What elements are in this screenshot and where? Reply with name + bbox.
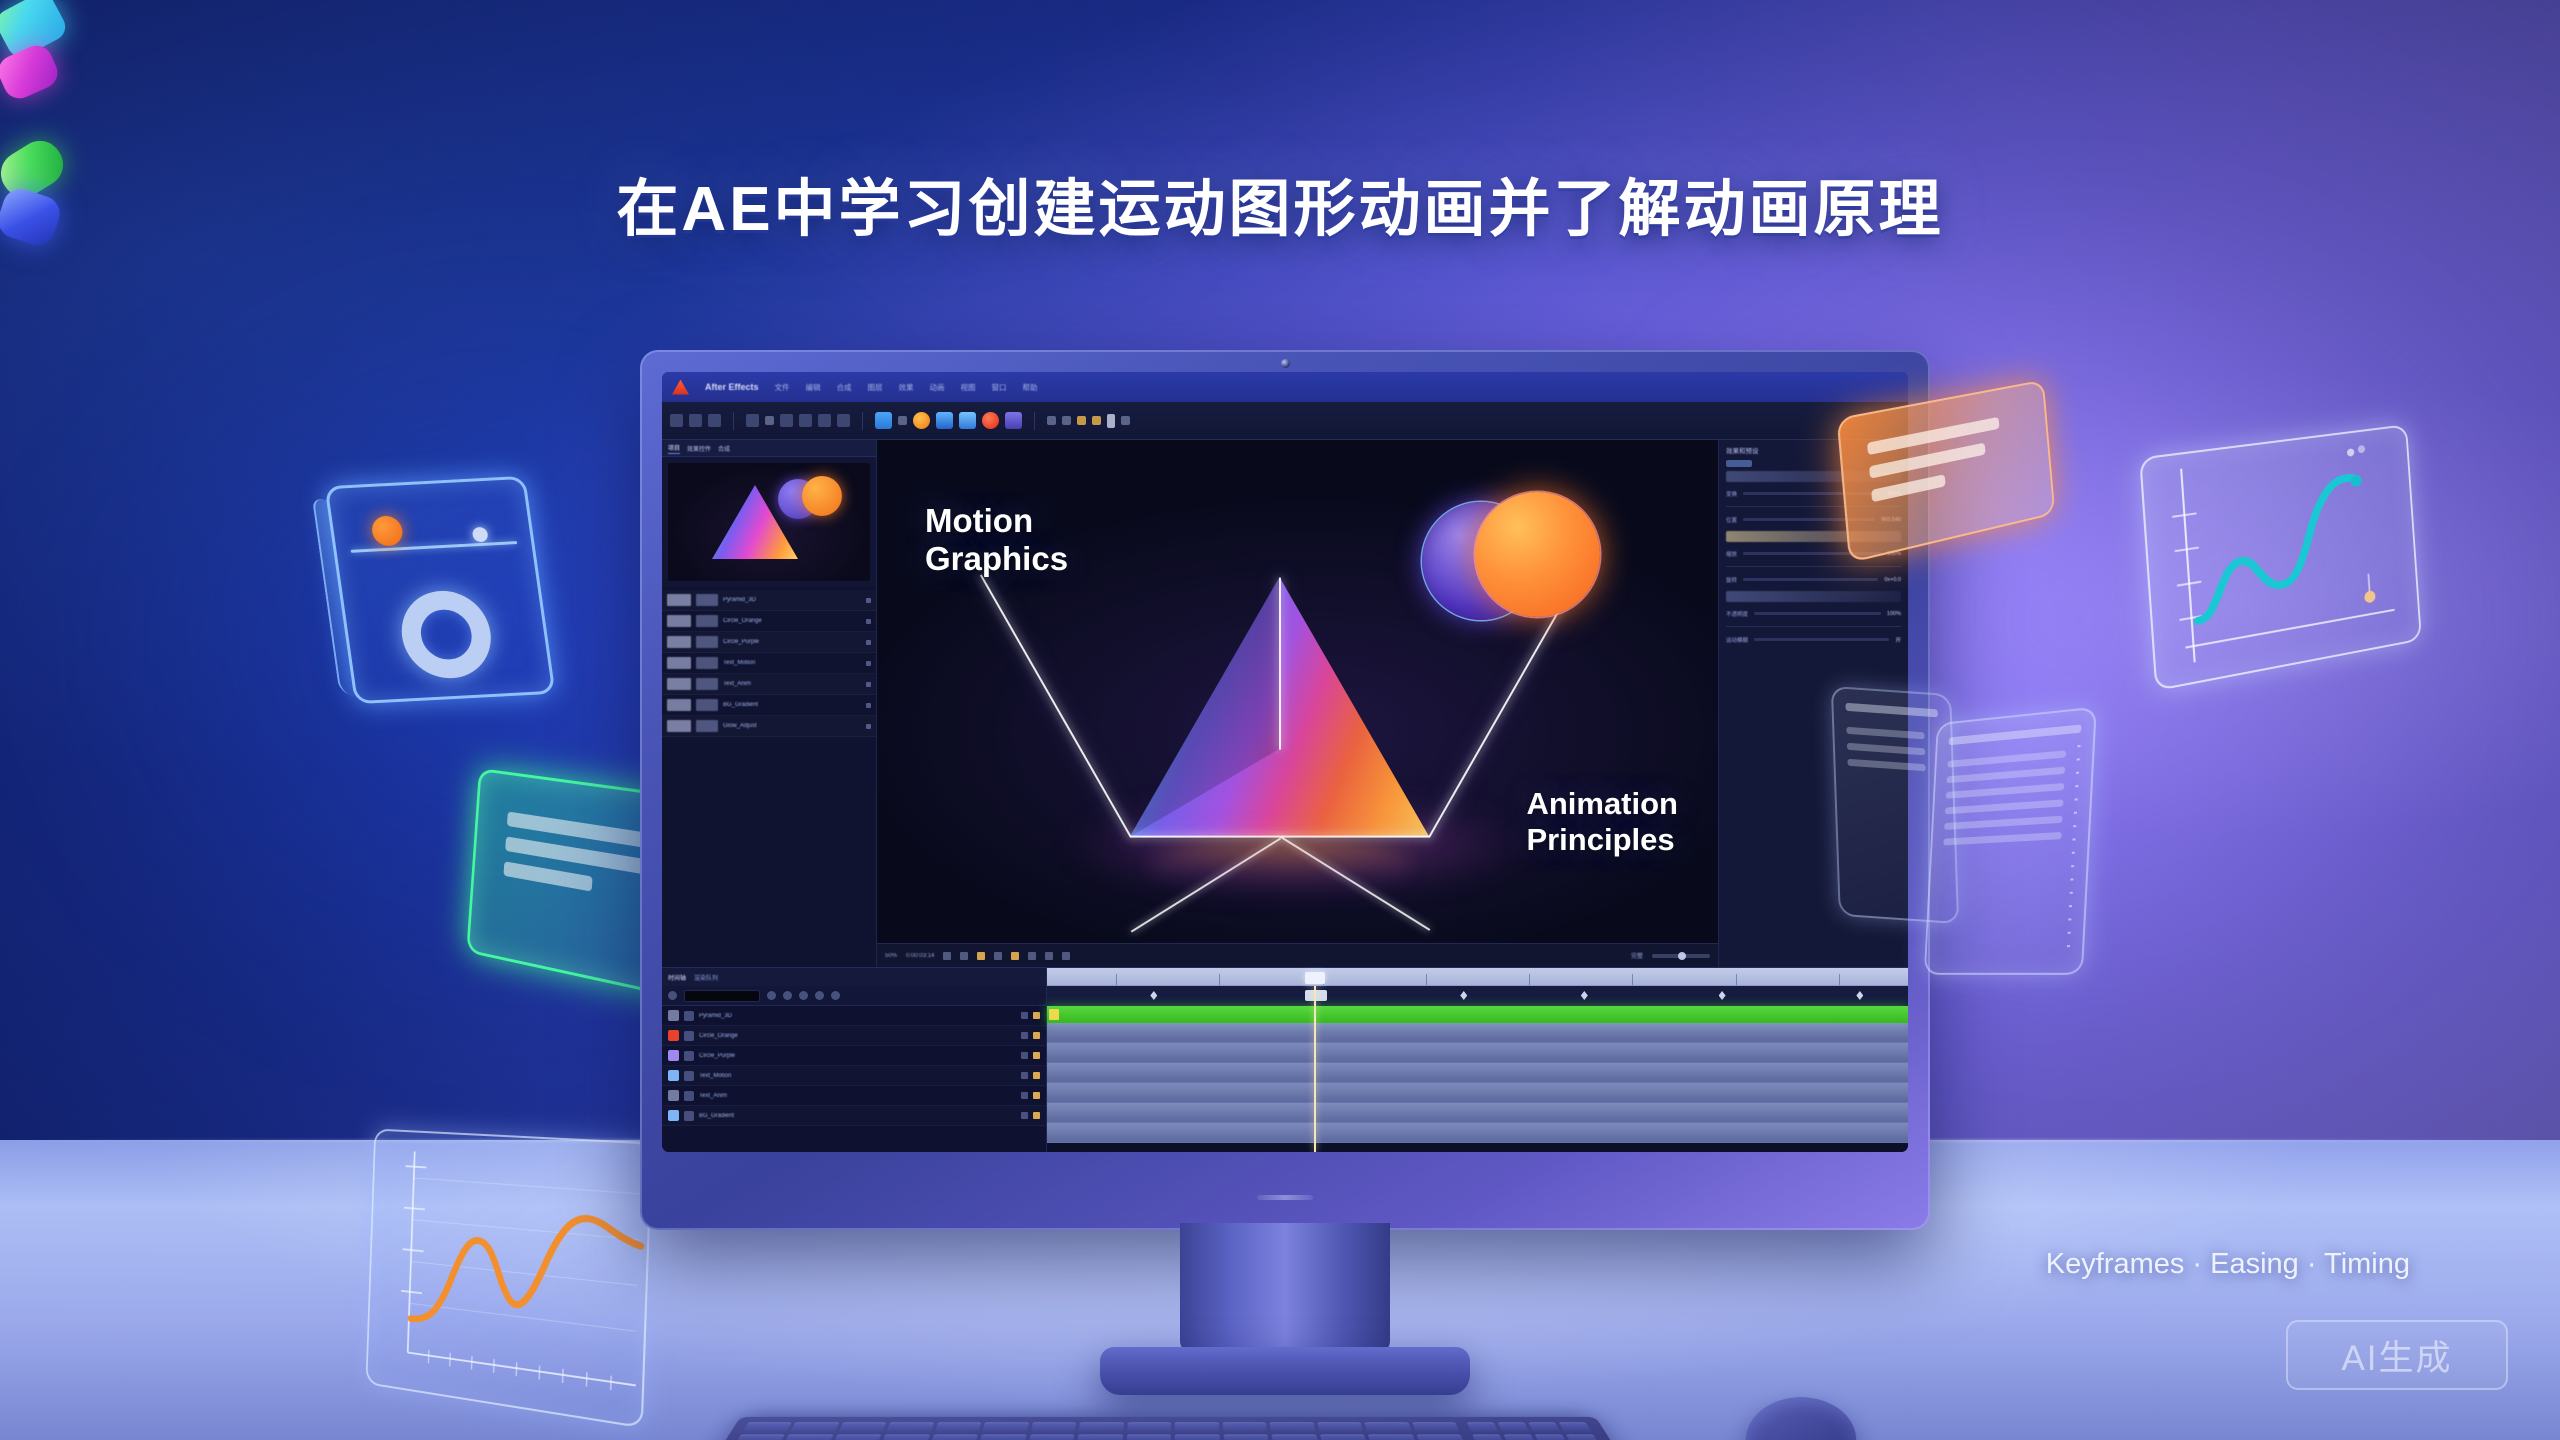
toolbar-divider — [733, 412, 734, 430]
tagline: Keyframes · Easing · Timing — [2046, 1248, 2410, 1281]
toolbar-group-transform — [746, 414, 850, 427]
layer-color-swatch[interactable] — [668, 1030, 679, 1041]
timeline-rows: Pyramid_3D Circle_Orange — [662, 1006, 1046, 1152]
keyframe-marker-icon[interactable] — [1460, 991, 1467, 1000]
shape-icon[interactable] — [1092, 416, 1101, 425]
layer-name: Glow_Adjust — [723, 723, 861, 729]
key — [1498, 1423, 1530, 1433]
layer-flag-icon[interactable] — [866, 598, 871, 603]
timeline-ruler[interactable] — [1047, 968, 1908, 986]
selection-icon[interactable] — [670, 414, 683, 427]
ruler-tick — [1116, 974, 1117, 985]
layer-lock-icon[interactable] — [1033, 1052, 1040, 1059]
list-item[interactable]: Text_Motion — [662, 653, 876, 674]
composition-viewer: Motion Graphics Animation Principles 50%… — [877, 440, 1718, 967]
timeline-keyframe-row[interactable] — [1047, 986, 1908, 1006]
app-shortcut-orange-icon[interactable] — [913, 412, 930, 429]
app-shortcut-small-icon[interactable] — [898, 416, 907, 425]
panel-card-header — [1845, 703, 1938, 717]
viewer-transparency-grid-icon[interactable] — [977, 952, 985, 960]
panel-card-row — [1847, 759, 1925, 771]
webcam-icon — [1281, 359, 1290, 368]
layer-solo-icon[interactable] — [1021, 1072, 1028, 1079]
layer-flag-icon[interactable] — [866, 724, 871, 729]
key — [1127, 1423, 1171, 1433]
timeline-panel: 时间轴 渲染队列 — [662, 967, 1908, 1152]
list-item[interactable]: Text_Anim — [662, 674, 876, 695]
layer-lock-icon[interactable] — [1033, 1012, 1040, 1019]
toolbar-group-right — [1047, 414, 1130, 428]
after-effects-app: After Effects 文件 编辑 合成 图层 效果 动画 视图 窗口 帮助 — [662, 372, 1908, 1152]
chart-legend-dot — [2358, 445, 2366, 454]
monitor: After Effects 文件 编辑 合成 图层 效果 动画 视图 窗口 帮助 — [640, 350, 1930, 1230]
key — [1077, 1434, 1123, 1440]
camera-indicator-white-icon — [472, 527, 489, 543]
key — [1028, 1434, 1074, 1440]
timeline-lane[interactable] — [1047, 1103, 1908, 1123]
clone-icon[interactable] — [837, 414, 850, 427]
toolbar-divider — [862, 412, 863, 430]
viewer-resolution-value[interactable]: 完整 — [1631, 951, 1643, 960]
hand-icon[interactable] — [689, 414, 702, 427]
timeline-lane[interactable] — [1047, 1043, 1908, 1063]
menu-item-layer[interactable]: 图层 — [868, 382, 883, 393]
table-row[interactable]: Circle_Orange — [662, 1026, 1046, 1046]
menu-item-animation[interactable]: 动画 — [930, 382, 945, 393]
timeline-lane[interactable] — [1047, 1123, 1908, 1143]
camera-strip — [351, 541, 518, 553]
layer-visibility-icon[interactable] — [684, 1051, 694, 1061]
key — [1175, 1434, 1220, 1440]
panel-card-ticks — [2066, 745, 2080, 954]
keyframe-marker-icon[interactable] — [1150, 991, 1157, 1000]
viewer-snapshot-icon[interactable] — [1045, 952, 1053, 960]
table-row[interactable]: Pyramid_3D — [662, 1006, 1046, 1026]
timeline-playhead[interactable] — [1314, 986, 1316, 1152]
layer-solo-icon[interactable] — [1021, 1112, 1028, 1119]
layer-color-swatch[interactable] — [668, 1050, 679, 1061]
frame-blend-icon[interactable] — [783, 991, 792, 1000]
overlay-text-motion-graphics: Motion Graphics — [925, 502, 1068, 577]
chart-x-ticks — [428, 1350, 611, 1390]
key — [833, 1434, 882, 1440]
toolbar-group-left — [670, 414, 721, 427]
effect-property-label: 不透明度 — [1726, 610, 1748, 618]
ruler-tick — [1529, 974, 1530, 985]
effects-search-chip[interactable] — [1726, 460, 1752, 467]
layer-name: Circle_Purple — [699, 1053, 1016, 1059]
layer-name: BG_Gradient — [699, 1113, 1016, 1119]
menu-item-window[interactable]: 窗口 — [992, 382, 1007, 393]
key — [1031, 1423, 1076, 1433]
layer-name: Circle_Orange — [723, 618, 861, 624]
layer-name: Text_Motion — [699, 1073, 1016, 1079]
timeline-tabs: 时间轴 渲染队列 — [662, 968, 1046, 986]
layer-name: Circle_Purple — [723, 639, 861, 645]
card-line-group — [1867, 412, 2030, 503]
anchor-icon[interactable] — [765, 416, 774, 425]
toolbar-group-apps — [875, 412, 1022, 429]
layer-color-swatch[interactable] — [668, 1090, 679, 1101]
glass-panel-card — [1924, 707, 2097, 975]
menu-item-help[interactable]: 帮助 — [1023, 382, 1038, 393]
work-area-marker[interactable] — [1305, 990, 1327, 1001]
key — [1535, 1434, 1568, 1440]
layer-type-icon — [696, 720, 718, 732]
camera-indicator-orange-icon — [370, 515, 404, 546]
brush-icon[interactable] — [818, 414, 831, 427]
monitor-stand-base — [1100, 1347, 1470, 1395]
list-item[interactable]: Circle_Purple — [662, 632, 876, 653]
project-panel-tabs: 项目 效果控件 合成 — [662, 440, 876, 457]
key — [979, 1434, 1026, 1440]
layer-thumbnail — [667, 636, 691, 648]
effect-property-value[interactable]: 100% — [1887, 611, 1901, 617]
key — [1317, 1423, 1363, 1433]
effect-property-label: 运动模糊 — [1726, 636, 1748, 644]
toolbar-divider — [1034, 412, 1035, 430]
layer-solo-icon[interactable] — [1021, 1092, 1028, 1099]
key — [1364, 1423, 1411, 1433]
key — [1566, 1434, 1599, 1440]
easing-curve-path — [2189, 477, 2364, 621]
key — [1223, 1434, 1269, 1440]
key — [742, 1423, 792, 1433]
zoom-icon[interactable] — [708, 414, 721, 427]
chart-x-axis — [2185, 610, 2394, 648]
chart-y-axis — [408, 1151, 415, 1352]
panel-card-rows — [1846, 727, 1926, 771]
preview-circle-orange-icon — [802, 476, 842, 516]
page-title: 在AE中学习创建运动图形动画并了解动画原理 — [0, 158, 2560, 248]
list-item[interactable]: Glow_Adjust — [662, 716, 876, 737]
effect-property-value[interactable]: 0x+0.0 — [1884, 577, 1901, 583]
viewer-control-bar: 50% 0:00:03:14 — [877, 943, 1718, 967]
panel-card-row — [1943, 832, 2062, 845]
app-toolbar — [662, 402, 1908, 440]
key — [735, 1434, 786, 1440]
key — [1467, 1423, 1498, 1433]
layer-visibility-icon[interactable] — [684, 1011, 694, 1021]
layer-thumbnail — [667, 678, 691, 690]
layer-lock-icon[interactable] — [1033, 1092, 1040, 1099]
key — [1222, 1423, 1267, 1433]
chart-endpoint-dot — [2364, 590, 2376, 603]
layer-name: Text_Anim — [699, 1093, 1016, 1099]
keyframe-marker-icon[interactable] — [1719, 991, 1726, 1000]
key — [839, 1423, 887, 1433]
list-item[interactable]: Pyramid_3D — [662, 590, 876, 611]
timeline-lane[interactable] — [1047, 1063, 1908, 1083]
panel-card-row — [1945, 799, 2064, 814]
layer-type-icon — [696, 636, 718, 648]
panel-card-row — [1947, 767, 2066, 784]
layer-thumbnail — [667, 594, 691, 606]
key — [1271, 1434, 1317, 1440]
tab-comp[interactable]: 合成 — [718, 444, 730, 453]
viewer-channel-icon[interactable] — [1011, 952, 1019, 960]
scene-root: 在AE中学习创建运动图形动画并了解动画原理 — [0, 0, 2560, 1440]
effect-property-label: 位置 — [1726, 516, 1737, 524]
effect-property-slider[interactable] — [1754, 638, 1889, 641]
chart-x-axis — [408, 1353, 636, 1386]
key — [1559, 1423, 1592, 1433]
menu-item-comp[interactable]: 合成 — [837, 382, 852, 393]
keyframe-marker-icon[interactable] — [1581, 991, 1588, 1000]
project-layer-list: Pyramid_3D Circle_Orange — [662, 587, 876, 967]
key — [1472, 1434, 1504, 1440]
ai-generated-watermark: AI生成 — [2286, 1320, 2508, 1390]
key — [887, 1423, 935, 1433]
layer-lock-icon[interactable] — [1033, 1032, 1040, 1039]
key — [1416, 1434, 1465, 1440]
viewer-resolution-icon[interactable] — [943, 952, 951, 960]
layer-visibility-icon[interactable] — [684, 1071, 694, 1081]
graph-editor-icon[interactable] — [799, 991, 808, 1000]
layer-color-swatch[interactable] — [668, 1110, 679, 1121]
list-item[interactable]: Circle_Orange — [662, 611, 876, 632]
panel-card-row — [1947, 750, 2066, 767]
layer-type-icon — [696, 657, 718, 669]
effect-property-row[interactable]: 旋转 0x+0.0 — [1726, 572, 1901, 587]
key — [935, 1423, 982, 1433]
card-line — [1871, 474, 1945, 502]
viewer-3d-view-icon[interactable] — [1062, 952, 1070, 960]
table-row[interactable]: BG_Gradient — [662, 1106, 1046, 1126]
project-panel: 项目 效果控件 合成 — [662, 440, 877, 967]
menu-item-file[interactable]: 文件 — [775, 382, 790, 393]
overlay-text-animation-principles: Animation Principles — [1526, 786, 1678, 857]
panel-card-row — [1946, 783, 2065, 799]
camera-icon — [324, 476, 555, 704]
tab-project[interactable]: 项目 — [668, 443, 680, 454]
key — [1079, 1423, 1124, 1433]
effect-property-value[interactable]: 开 — [1895, 636, 1901, 644]
layer-visibility-icon[interactable] — [684, 1111, 694, 1121]
panel-card-row — [1846, 727, 1924, 739]
viewer-exposure-icon[interactable] — [1028, 952, 1036, 960]
layer-solo-icon[interactable] — [1021, 1012, 1028, 1019]
key — [930, 1434, 978, 1440]
after-effects-logo-icon — [672, 380, 689, 395]
shy-layers-icon[interactable] — [815, 991, 824, 1000]
panel-card-header — [1949, 724, 2082, 745]
key — [1270, 1423, 1316, 1433]
app-shortcut-azure-icon[interactable] — [959, 412, 976, 429]
layer-flag-icon[interactable] — [866, 682, 871, 687]
layer-flag-icon[interactable] — [866, 619, 871, 624]
camera-tool-icon[interactable] — [1121, 416, 1130, 425]
composition-canvas[interactable]: Motion Graphics Animation Principles — [877, 440, 1718, 943]
key — [1412, 1423, 1460, 1433]
tab-effects[interactable]: 效果控件 — [687, 444, 711, 453]
pyramid-edge-center — [1279, 577, 1281, 749]
viewer-guides-icon[interactable] — [994, 952, 1002, 960]
mask-icon[interactable] — [1107, 414, 1115, 428]
ruler-tick — [1219, 974, 1220, 985]
key — [983, 1423, 1029, 1433]
layer-thumbnail — [667, 657, 691, 669]
panel-card-row — [1944, 816, 2063, 830]
puppet-icon[interactable] — [1062, 416, 1071, 425]
effect-property-slider[interactable] — [1754, 612, 1881, 615]
viewer-region-icon[interactable] — [960, 952, 968, 960]
timeline-lane[interactable] — [1047, 1083, 1908, 1103]
key — [1175, 1423, 1219, 1433]
layer-flag-icon[interactable] — [866, 703, 871, 708]
layer-lock-icon[interactable] — [1033, 1112, 1040, 1119]
menu-item-view[interactable]: 视图 — [961, 382, 976, 393]
key — [1503, 1434, 1536, 1440]
layer-solo-icon[interactable] — [1021, 1032, 1028, 1039]
list-item[interactable]: BG_Gradient — [662, 695, 876, 716]
chart-legend-dot — [2347, 448, 2355, 457]
monitor-bezel: After Effects 文件 编辑 合成 图层 效果 动画 视图 窗口 帮助 — [640, 350, 1930, 1230]
timeline-toolbar — [662, 986, 1046, 1006]
layer-type-icon — [696, 699, 718, 711]
effect-property-label: 变换 — [1726, 490, 1737, 498]
ruler-tick — [1426, 974, 1427, 985]
layer-flag-icon[interactable] — [866, 640, 871, 645]
key — [1368, 1434, 1416, 1440]
key — [790, 1423, 839, 1433]
layer-type-icon — [696, 678, 718, 690]
layer-thumbnail — [667, 615, 691, 627]
effect-property-row[interactable]: 运动模糊 开 — [1726, 632, 1901, 647]
layer-color-swatch[interactable] — [668, 1010, 679, 1021]
timecode-display[interactable] — [684, 990, 760, 1002]
camera-lens-icon — [396, 589, 496, 681]
app-shortcut-blue-icon[interactable] — [875, 412, 892, 429]
effect-property-slider[interactable] — [1743, 578, 1878, 581]
effect-property-row[interactable]: 不透明度 100% — [1726, 606, 1901, 621]
key — [1126, 1434, 1171, 1440]
monitor-stand-neck — [1180, 1223, 1390, 1353]
ruler-tick — [1736, 974, 1737, 985]
layer-solo-icon[interactable] — [1021, 1052, 1028, 1059]
layer-type-icon — [696, 594, 718, 606]
layer-name: Pyramid_3D — [699, 1013, 1016, 1019]
camera-icon-card — [324, 476, 555, 704]
effects-divider — [1726, 626, 1901, 627]
layer-thumbnail — [667, 720, 691, 732]
keyframe-marker-icon[interactable] — [1856, 991, 1863, 1000]
tab-render-queue[interactable]: 渲染队列 — [694, 973, 718, 982]
layer-name: Pyramid_3D — [723, 597, 861, 603]
layer-color-swatch[interactable] — [668, 1070, 679, 1081]
key — [1528, 1423, 1560, 1433]
viewer-zoom-value[interactable]: 50% — [885, 953, 897, 959]
layer-name: Circle_Orange — [699, 1033, 1016, 1039]
table-row[interactable]: Text_Motion — [662, 1066, 1046, 1086]
viewer-timecode[interactable]: 0:00:03:14 — [906, 953, 934, 959]
playhead-handle[interactable] — [1305, 972, 1325, 984]
monitor-brand-logo — [1257, 1195, 1313, 1200]
pyramid-artwork — [1130, 577, 1430, 837]
app-shortcut-red-icon[interactable] — [982, 412, 999, 429]
table-row[interactable]: Circle_Purple — [662, 1046, 1046, 1066]
pen-icon[interactable] — [780, 414, 793, 427]
effects-divider — [1726, 566, 1901, 567]
eraser-icon[interactable] — [1077, 416, 1086, 425]
monitor-screen: After Effects 文件 编辑 合成 图层 效果 动画 视图 窗口 帮助 — [662, 372, 1908, 1152]
draft-3d-icon[interactable] — [831, 991, 840, 1000]
layer-visibility-icon[interactable] — [684, 1091, 694, 1101]
timeline-lane[interactable] — [1047, 1023, 1908, 1043]
menu-item-edit[interactable]: 编辑 — [806, 382, 821, 393]
keyboard[interactable] — [693, 1417, 1643, 1440]
motion-blur-icon[interactable] — [767, 991, 776, 1000]
effect-property-label: 缩放 — [1726, 550, 1737, 558]
project-preview-thumbnail[interactable] — [668, 463, 870, 581]
type-icon[interactable] — [799, 414, 812, 427]
chart-y-axis — [2181, 469, 2195, 662]
keyboard-numpad[interactable] — [1467, 1423, 1624, 1440]
layer-name: BG_Gradient — [723, 702, 861, 708]
timeline-track-area[interactable] — [1047, 968, 1908, 1152]
app-shortcut-cyan-icon[interactable] — [936, 412, 953, 429]
pyramid-edge-left — [979, 574, 1131, 837]
ruler-tick — [1839, 974, 1840, 985]
effect-property-label: 旋转 — [1726, 576, 1737, 584]
layer-thumbnail — [667, 699, 691, 711]
menu-item-effect[interactable]: 效果 — [899, 382, 914, 393]
tab-timeline[interactable]: 时间轴 — [668, 973, 686, 982]
layer-name: Text_Anim — [723, 681, 861, 687]
circle-orange — [1475, 492, 1600, 617]
app-shortcut-purple-icon[interactable] — [1005, 412, 1022, 429]
effects-band — [1726, 591, 1901, 602]
app-name: After Effects — [705, 382, 759, 392]
key — [784, 1434, 834, 1440]
app-menubar: After Effects 文件 编辑 合成 图层 效果 动画 视图 窗口 帮助 — [662, 372, 1908, 402]
layer-type-icon — [696, 615, 718, 627]
keyboard-main-keys[interactable] — [710, 1423, 1482, 1440]
layer-name: Text_Motion — [723, 660, 861, 666]
ruler-tick — [1632, 974, 1633, 985]
roto-icon[interactable] — [1047, 416, 1056, 425]
timeline-layer-column: 时间轴 渲染队列 — [662, 968, 1047, 1152]
panel-card-rows — [1943, 750, 2066, 845]
panel-card-row — [1847, 743, 1925, 755]
table-row[interactable]: Text_Anim — [662, 1086, 1046, 1106]
viewer-exposure-slider[interactable] — [1652, 954, 1710, 958]
pyramid-reflection — [1148, 837, 1412, 895]
layer-lock-icon[interactable] — [1033, 1072, 1040, 1079]
layer-visibility-icon[interactable] — [684, 1031, 694, 1041]
search-icon[interactable] — [668, 991, 677, 1000]
key — [882, 1434, 930, 1440]
layer-flag-icon[interactable] — [866, 661, 871, 666]
key — [1320, 1434, 1367, 1440]
timeline-green-track[interactable] — [1047, 1006, 1908, 1023]
rotate-icon[interactable] — [746, 414, 759, 427]
app-body: 项目 效果控件 合成 — [662, 440, 1908, 967]
